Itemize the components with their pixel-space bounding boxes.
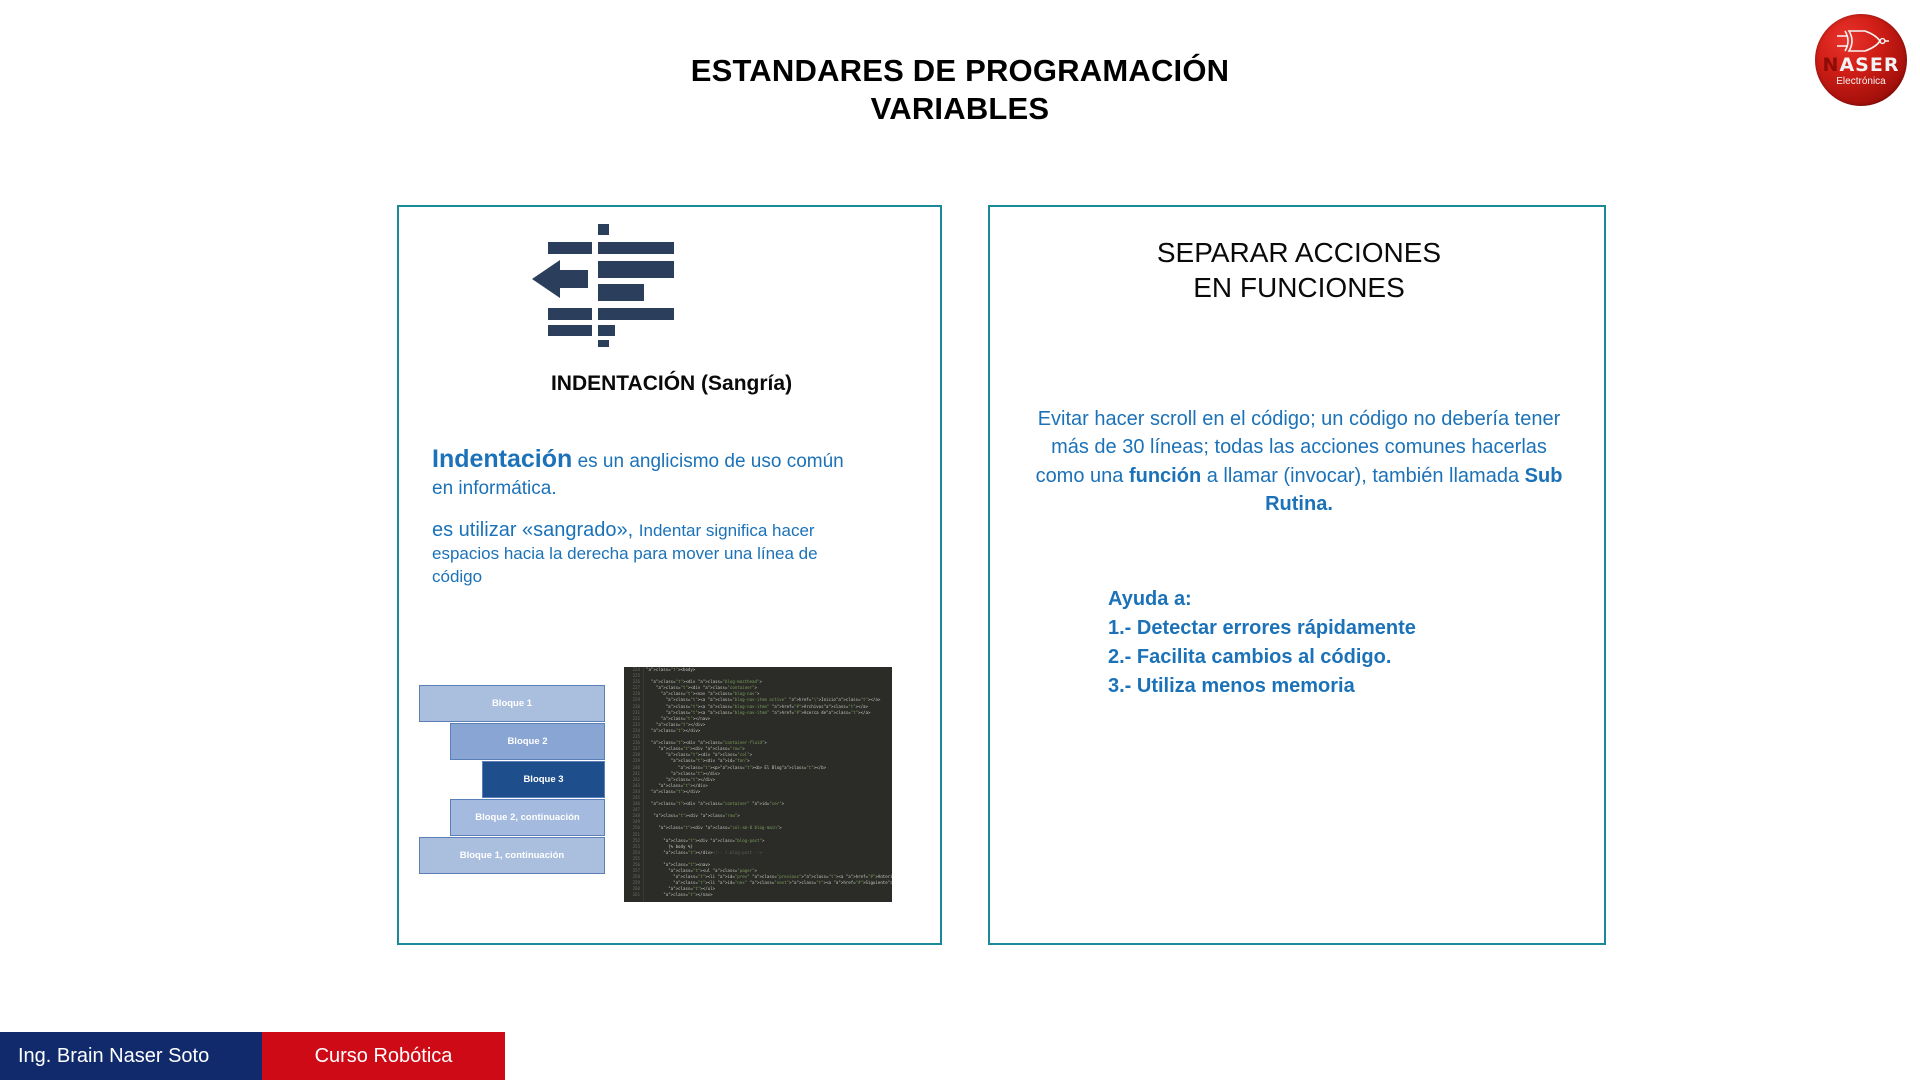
panel-indentation: INDENTACIÓN (Sangría) Indentación es un … [397,205,942,945]
functions-heading-line-2: EN FUNCIONES [990,270,1608,305]
help-list-item: 2.- Facilita cambios al código. [1108,643,1568,672]
block-item: Bloque 3 [482,761,605,798]
indentation-paragraph-2: es utilizar «sangrado», Indentar signifi… [432,517,852,588]
html-code-screenshot: 224"a">class="t"><body>225226 "a">class=… [624,667,892,902]
xor-gate-icon [1835,27,1889,55]
code-body: 224"a">class="t"><body>225226 "a">class=… [624,667,892,899]
functions-paragraph-part-2: a llamar (invocar), también llamada [1201,465,1524,487]
page-title: ESTANDARES DE PROGRAMACIÓN VARIABLES [0,52,1920,128]
indentation-paragraph-1: Indentación es un anglicismo de uso comú… [432,443,852,501]
indentation-block-diagram: Bloque 1 Bloque 2 Bloque 3 Bloque 2, con… [419,685,609,883]
logo-subtitle: Electrónica [1815,76,1907,87]
functions-term-funcion: función [1129,465,1201,487]
logo-letter-n: N [1823,54,1840,76]
title-line-2: VARIABLES [0,90,1920,128]
footer-course: Curso Robótica [262,1032,505,1080]
logo-word-rest: ASER [1839,54,1899,76]
functions-help-list: Ayuda a: 1.- Detectar errores rápidament… [1108,585,1568,701]
panel-functions: SEPARAR ACCIONES EN FUNCIONES Evitar hac… [988,205,1606,945]
functions-paragraph: Evitar hacer scroll en el código; un cód… [1032,405,1566,519]
help-list-title: Ayuda a: [1108,585,1568,614]
functions-heading-line-1: SEPARAR ACCIONES [990,235,1608,270]
block-item: Bloque 2 [450,723,605,760]
block-item: Bloque 2, continuación [450,799,605,836]
indentation-arrow-icon [530,222,680,347]
title-line-1: ESTANDARES DE PROGRAMACIÓN [691,53,1230,88]
indentation-paragraph-2-lead: es utilizar «sangrado», [432,519,639,541]
naser-electronica-logo: NASER Electrónica [1815,14,1907,106]
indentation-heading: INDENTACIÓN (Sangría) [399,372,944,396]
indentation-term: Indentación [432,445,572,473]
block-item: Bloque 1 [419,685,605,722]
block-item: Bloque 1, continuación [419,837,605,874]
functions-heading: SEPARAR ACCIONES EN FUNCIONES [990,235,1608,305]
help-list-item: 3.- Utiliza menos memoria [1108,672,1568,701]
logo-wordmark: NASER [1815,54,1907,76]
footer-author: Ing. Brain Naser Soto [0,1032,262,1080]
help-list-item: 1.- Detectar errores rápidamente [1108,614,1568,643]
